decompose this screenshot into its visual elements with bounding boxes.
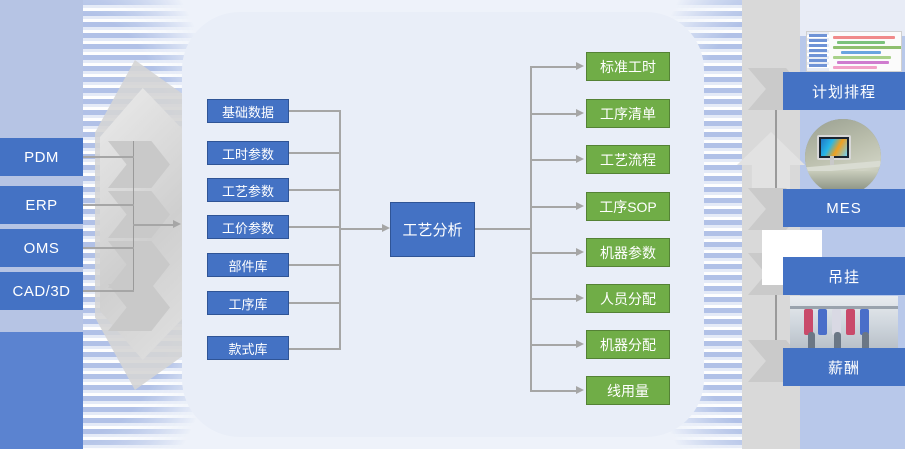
downstream-panel-payroll[interactable]: 薪酬 <box>783 348 905 386</box>
input-box-component-library[interactable]: 部件库 <box>207 253 289 277</box>
connector-input-5 <box>289 264 340 266</box>
output-box-machine-param[interactable]: 机器参数 <box>586 238 670 267</box>
connector-input-1 <box>289 110 340 112</box>
input-label-4: 工价参数 <box>222 218 274 237</box>
input-label-5: 部件库 <box>228 256 267 275</box>
arrow-right-icon <box>576 340 584 348</box>
output-box-operation-sop[interactable]: 工序SOP <box>586 192 670 221</box>
connector-oms <box>83 247 134 249</box>
source-box-cad3d[interactable]: CAD/3D <box>0 272 83 310</box>
input-label-6: 工序库 <box>228 294 267 313</box>
connector-output-2 <box>530 113 578 115</box>
source-label-cad3d: CAD/3D <box>12 283 70 300</box>
downstream-panel-mes[interactable]: MES <box>783 189 905 227</box>
arrow-right-icon <box>382 224 390 232</box>
hanging-line-photo <box>790 296 898 348</box>
input-box-price-param[interactable]: 工价参数 <box>207 215 289 239</box>
arrow-right-icon <box>576 386 584 394</box>
workshop-monitor-photo <box>805 119 881 195</box>
output-label-5: 机器参数 <box>600 243 656 263</box>
input-box-style-library[interactable]: 款式库 <box>207 336 289 360</box>
connector-input-6 <box>289 302 340 304</box>
downstream-label-2: MES <box>826 200 862 217</box>
connector-output-4 <box>530 206 578 208</box>
connector-output-7 <box>530 344 578 346</box>
process-label: 工艺分析 <box>402 219 462 240</box>
connector-output-8 <box>530 390 578 392</box>
output-box-machine-allocation[interactable]: 机器分配 <box>586 330 670 359</box>
arrow-right-icon <box>173 220 181 228</box>
output-box-staff-allocation[interactable]: 人员分配 <box>586 284 670 313</box>
arrow-right-icon <box>576 62 584 70</box>
output-box-process-flow[interactable]: 工艺流程 <box>586 145 670 174</box>
connector-input-7 <box>289 348 340 350</box>
input-label-1: 基础数据 <box>222 102 274 121</box>
connector-bus-to-process <box>339 228 384 230</box>
connector-output-5 <box>530 252 578 254</box>
diagram-canvas: PDM ERP OMS CAD/3D 基础数据 工时参数 工艺参数 工价参数 部… <box>0 0 905 449</box>
output-label-8: 线用量 <box>607 381 649 401</box>
source-label-erp: ERP <box>25 197 57 214</box>
arrow-right-icon <box>576 109 584 117</box>
source-label-pdm: PDM <box>24 149 59 166</box>
left-color-band-bottom <box>0 332 83 449</box>
gantt-chart-thumbnail <box>806 31 902 72</box>
output-label-1: 标准工时 <box>600 57 656 77</box>
input-box-work-hour-param[interactable]: 工时参数 <box>207 141 289 165</box>
connector-output-3 <box>530 159 578 161</box>
connector-output-6 <box>530 298 578 300</box>
process-box-craft-analysis[interactable]: 工艺分析 <box>390 202 475 257</box>
source-label-oms: OMS <box>24 240 60 257</box>
output-label-7: 机器分配 <box>600 335 656 355</box>
source-box-erp[interactable]: ERP <box>0 186 83 224</box>
connector-left-to-panel <box>133 224 175 226</box>
source-box-oms[interactable]: OMS <box>0 229 83 267</box>
arrow-right-icon <box>576 202 584 210</box>
gantt-row-labels <box>807 32 829 71</box>
output-box-operation-list[interactable]: 工序清单 <box>586 99 670 128</box>
arrow-right-icon <box>576 294 584 302</box>
downstream-label-3: 吊挂 <box>828 266 860 287</box>
arrow-right-icon <box>576 155 584 163</box>
output-box-thread-usage[interactable]: 线用量 <box>586 376 670 405</box>
left-bus-line <box>133 141 134 290</box>
input-label-2: 工时参数 <box>222 144 274 163</box>
connector-cad <box>83 290 134 292</box>
output-label-4: 工序SOP <box>599 197 657 217</box>
input-box-basic-data[interactable]: 基础数据 <box>207 99 289 123</box>
connector-pdm <box>83 156 134 158</box>
output-box-standard-time[interactable]: 标准工时 <box>586 52 670 81</box>
downstream-label-4: 薪酬 <box>828 357 860 378</box>
connector-erp <box>83 204 134 206</box>
connector-input-4 <box>289 226 340 228</box>
output-label-6: 人员分配 <box>600 289 656 309</box>
input-label-3: 工艺参数 <box>222 181 274 200</box>
output-label-2: 工序清单 <box>600 104 656 124</box>
input-bus-line <box>339 110 341 350</box>
source-box-pdm[interactable]: PDM <box>0 138 83 176</box>
downstream-panel-planning[interactable]: 计划排程 <box>783 72 905 110</box>
input-label-7: 款式库 <box>228 339 267 358</box>
connector-input-3 <box>289 189 340 191</box>
output-label-3: 工艺流程 <box>600 150 656 170</box>
input-box-process-param[interactable]: 工艺参数 <box>207 178 289 202</box>
downstream-panel-hanging[interactable]: 吊挂 <box>783 257 905 295</box>
connector-output-1 <box>530 66 578 68</box>
connector-input-2 <box>289 152 340 154</box>
arrow-right-icon <box>576 248 584 256</box>
output-bus-line <box>530 66 532 391</box>
connector-process-to-bus <box>475 228 531 230</box>
downstream-label-1: 计划排程 <box>812 81 876 102</box>
input-box-operation-library[interactable]: 工序库 <box>207 291 289 315</box>
